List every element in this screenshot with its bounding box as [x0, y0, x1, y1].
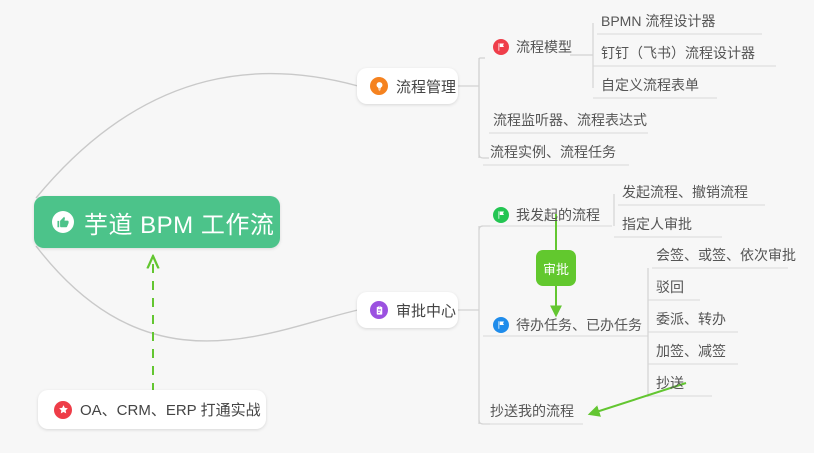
node-my-started-process[interactable]: 我发起的流程: [493, 204, 604, 226]
leaf-countersign[interactable]: 会签、或签、依次审批: [652, 246, 800, 268]
leaf-assignee-approval-label: 指定人审批: [618, 214, 696, 237]
leaf-add-remove-sign[interactable]: 加签、减签: [652, 342, 730, 364]
leaf-custom-process-form[interactable]: 自定义流程表单: [597, 76, 703, 98]
leaf-delegate-transfer[interactable]: 委派、转办: [652, 310, 730, 332]
flag-icon: [493, 207, 509, 223]
leaf-reject-label: 驳回: [652, 277, 688, 300]
footnote-label: OA、CRM、ERP 打通实战: [80, 399, 261, 420]
node-process-model[interactable]: 流程模型: [493, 36, 576, 58]
leaf-cc-label: 抄送: [652, 373, 688, 396]
branch-approval-center-label: 审批中心: [396, 300, 456, 321]
approval-badge-label: 审批: [543, 259, 569, 278]
node-todo-done-tasks-label: 待办任务、已办任务: [516, 315, 646, 335]
wire-root-to-process-management: [36, 74, 358, 198]
leaf-bpmn-designer[interactable]: BPMN 流程设计器: [597, 12, 719, 34]
root-label: 芋道 BPM 工作流: [84, 205, 274, 240]
branch-process-management-label: 流程管理: [396, 76, 456, 97]
leaf-cc-to-me-process-label: 抄送我的流程: [486, 401, 578, 424]
star-icon: [54, 401, 72, 419]
thumbs-up-icon: [52, 211, 74, 233]
mindmap-canvas: 芋道 BPM 工作流 OA、CRM、ERP 打通实战 流程管理 流程模型 BPM…: [0, 0, 814, 453]
lightbulb-icon: [370, 77, 388, 95]
leaf-countersign-label: 会签、或签、依次审批: [652, 245, 800, 268]
branch-process-management[interactable]: 流程管理: [357, 68, 458, 104]
leaf-bpmn-designer-label: BPMN 流程设计器: [597, 11, 719, 34]
spine-approval-center-cap-top: [479, 226, 490, 230]
leaf-custom-process-form-label: 自定义流程表单: [597, 75, 703, 98]
leaf-listener-expression[interactable]: 流程监听器、流程表达式: [489, 111, 651, 133]
leaf-start-cancel-process-label: 发起流程、撤销流程: [618, 182, 752, 205]
leaf-cc[interactable]: 抄送: [652, 374, 688, 396]
clipboard-icon: [370, 301, 388, 319]
leaf-delegate-transfer-label: 委派、转办: [652, 309, 730, 332]
node-my-started-process-label: 我发起的流程: [516, 205, 604, 225]
wire-root-to-approval-center: [36, 246, 358, 341]
leaf-add-remove-sign-label: 加签、减签: [652, 341, 730, 364]
leaf-assignee-approval[interactable]: 指定人审批: [618, 215, 696, 237]
branch-approval-center[interactable]: 审批中心: [357, 292, 458, 328]
leaf-start-cancel-process[interactable]: 发起流程、撤销流程: [618, 183, 752, 205]
footnote-node[interactable]: OA、CRM、ERP 打通实战: [38, 390, 266, 429]
leaf-dingtalk-feishu-designer[interactable]: 钉钉（飞书）流程设计器: [597, 44, 759, 66]
node-process-model-label: 流程模型: [516, 37, 576, 57]
leaf-instance-task-label: 流程实例、流程任务: [486, 142, 620, 165]
leaf-reject[interactable]: 驳回: [652, 278, 688, 300]
leaf-listener-expression-label: 流程监听器、流程表达式: [489, 110, 651, 133]
leaf-instance-task[interactable]: 流程实例、流程任务: [486, 143, 620, 165]
node-todo-done-tasks[interactable]: 待办任务、已办任务: [493, 314, 646, 336]
flag-icon: [493, 39, 509, 55]
approval-badge: 审批: [536, 250, 576, 286]
root-node[interactable]: 芋道 BPM 工作流: [34, 196, 280, 248]
leaf-dingtalk-feishu-designer-label: 钉钉（飞书）流程设计器: [597, 43, 759, 66]
leaf-cc-to-me-process[interactable]: 抄送我的流程: [486, 402, 578, 424]
flag-icon: [493, 317, 509, 333]
